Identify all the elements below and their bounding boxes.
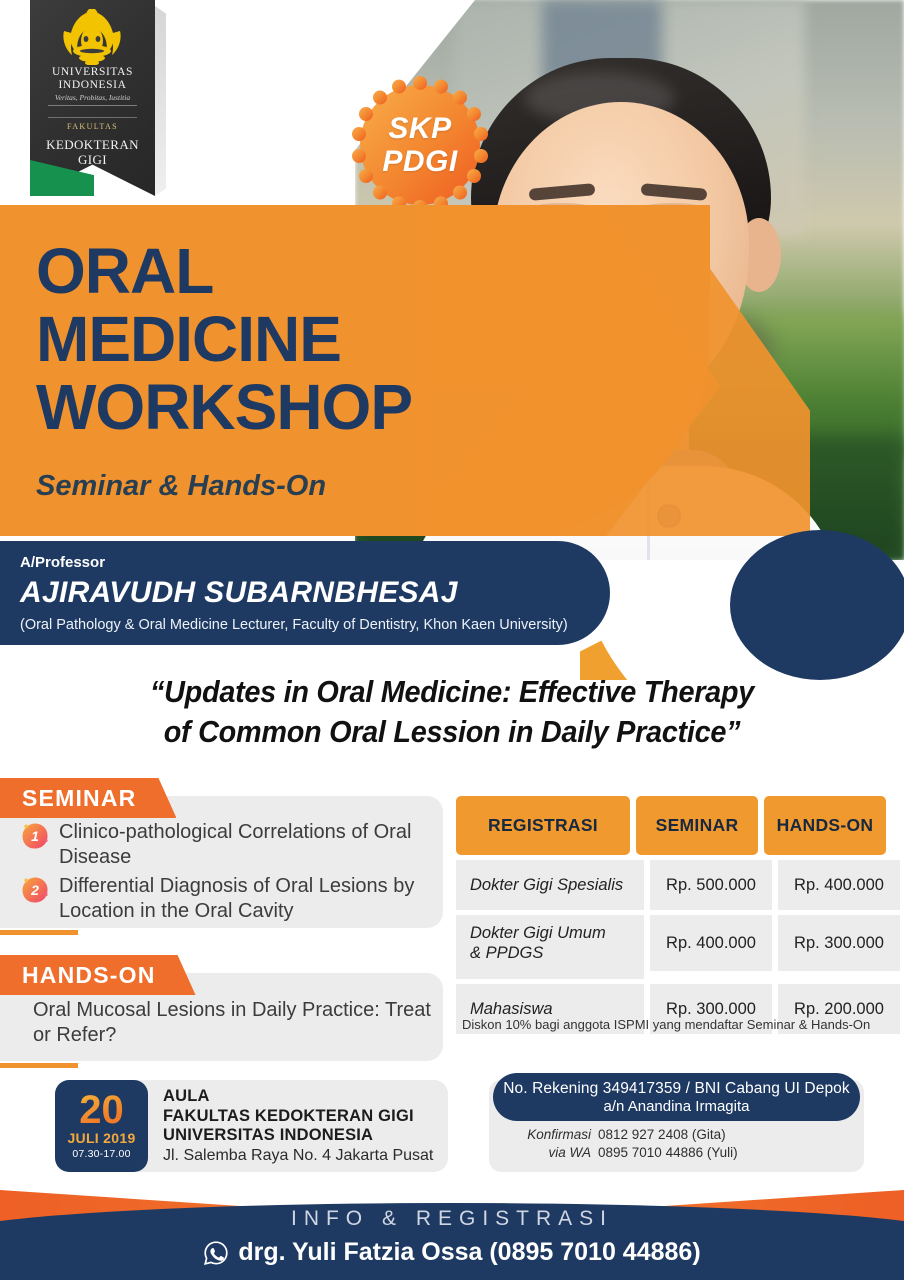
title-line-2: MEDICINE [36, 308, 341, 370]
skp-line-1: SKP [388, 112, 451, 145]
list-item: 2 Differential Diagnosis of Oral Lesions… [22, 874, 432, 923]
cell-seminar-price: Rp. 500.000 [650, 860, 772, 910]
confirmation-row: Konfirmasi0812 927 2408 (Gita) [505, 1126, 850, 1144]
logo-university-line2: INDONESIA [30, 79, 155, 92]
bank-account-number: No. Rekening 349417359 / BNI Cabang UI D… [503, 1080, 849, 1098]
cell-handson-price: Rp. 400.000 [778, 860, 900, 910]
bank-account-header: No. Rekening 349417359 / BNI Cabang UI D… [493, 1073, 860, 1121]
skp-pdgi-badge: SKP PDGI [348, 73, 492, 217]
column-header-registrasi: REGISTRASI [456, 796, 630, 855]
logo-motto: Veritas, Probitas, Iustitia [30, 93, 155, 102]
cell-category-line1: Dokter Gigi Umum [470, 923, 644, 943]
venue-line-3: UNIVERSITAS INDONESIA [163, 1126, 433, 1146]
hands-on-text: Oral Mucosal Lesions in Daily Practice: … [33, 998, 433, 1048]
confirmation-value: 0812 927 2408 (Gita) [598, 1127, 726, 1142]
speaker-name: AJIRAVUDH SUBARNBHESAJ [20, 576, 458, 610]
whatsapp-row: via WA0895 7010 44886 (Yuli) [505, 1144, 850, 1162]
confirmation-details: Konfirmasi0812 927 2408 (Gita) via WA089… [505, 1126, 850, 1162]
bullet-number-text: 1 [22, 823, 48, 849]
venue-address: Jl. Salemba Raya No. 4 Jakarta Pusat [163, 1146, 433, 1166]
table-row: Dokter Gigi Umum & PPDGS Rp. 400.000 Rp.… [456, 910, 904, 979]
event-theme-quote: “Updates in Oral Medicine: Effective The… [87, 672, 816, 752]
title-line-3: WORKSHOP [36, 376, 412, 438]
seminar-item-text: Clinico-pathological Correlations of Ora… [59, 820, 432, 869]
venue-line-1: AULA [163, 1087, 433, 1107]
cell-category: Dokter Gigi Spesialis [456, 860, 644, 910]
list-item: 1 Clinico-pathological Correlations of O… [22, 820, 432, 869]
cell-handson-price: Rp. 300.000 [778, 915, 900, 971]
logo-faculty-line2: GIGI [30, 152, 155, 167]
seminar-underline [0, 930, 78, 935]
hands-on-underline [0, 1063, 78, 1068]
logo-divider-2 [48, 117, 137, 118]
logo-university-name: UNIVERSITAS INDONESIA [30, 66, 155, 91]
venue-line-2: FAKULTAS KEDOKTERAN GIGI [163, 1107, 433, 1127]
whatsapp-icon[interactable] [203, 1240, 229, 1266]
orange-triangle-accent [440, 390, 520, 490]
logo-faculty-line1: KEDOKTERAN [30, 137, 155, 152]
makara-icon [52, 9, 132, 65]
quote-line-1: “Updates in Oral Medicine: Effective The… [87, 672, 816, 712]
whatsapp-value: 0895 7010 44886 (Yuli) [598, 1145, 738, 1160]
quote-line-2: of Common Oral Lession in Daily Practice… [87, 712, 816, 752]
column-header-hands-on: HANDS-ON [764, 796, 886, 855]
bank-account-holder: a/n Anandina Irmagita [604, 1098, 750, 1115]
registration-price-table: REGISTRASI SEMINAR HANDS-ON Dokter Gigi … [456, 796, 904, 1034]
seminar-item-text: Differential Diagnosis of Oral Lesions b… [59, 874, 432, 923]
table-header-row: REGISTRASI SEMINAR HANDS-ON [456, 796, 904, 855]
title-line-1: ORAL [36, 240, 213, 302]
event-time: 07.30-17.00 [72, 1148, 130, 1160]
whatsapp-label: via WA [505, 1144, 591, 1162]
cell-category-line2: & PPDGS [470, 943, 644, 963]
ui-logo-shadow [155, 6, 166, 196]
skp-badge-text: SKP PDGI [348, 73, 492, 217]
column-header-seminar: SEMINAR [636, 796, 758, 855]
seminar-tag: SEMINAR [0, 778, 176, 818]
event-date-box: 20 JULI 2019 07.30-17.00 [55, 1080, 148, 1172]
speaker-role: A/Professor [20, 554, 105, 571]
cell-seminar-price: Rp. 400.000 [650, 915, 772, 971]
speaker-affiliation: (Oral Pathology & Oral Medicine Lecturer… [20, 617, 568, 633]
cell-category: Dokter Gigi Umum & PPDGS [456, 915, 644, 979]
footer-contact: drg. Yuli Fatzia Ossa (0895 7010 44886) [0, 1238, 904, 1267]
venue-details: AULA FAKULTAS KEDOKTERAN GIGI UNIVERSITA… [163, 1087, 433, 1166]
hands-on-tag: HANDS-ON [0, 955, 196, 995]
logo-divider-1 [48, 105, 137, 106]
bullet-number-text: 2 [22, 877, 48, 903]
discount-note: Diskon 10% bagi anggota ISPMI yang menda… [462, 1017, 870, 1032]
footer-title: INFO & REGISTRASI [0, 1207, 904, 1231]
footer-contact-text: drg. Yuli Fatzia Ossa (0895 7010 44886) [238, 1238, 700, 1267]
confirmation-label: Konfirmasi [505, 1126, 591, 1144]
logo-university-line1: UNIVERSITAS [30, 66, 155, 79]
logo-faculty-name: KEDOKTERAN GIGI [30, 137, 155, 167]
poster-root: UNIVERSITAS INDONESIA Veritas, Probitas,… [0, 0, 904, 1280]
seminar-topic-list: 1 Clinico-pathological Correlations of O… [22, 820, 432, 928]
bullet-number-icon: 2 [22, 877, 48, 903]
orange-swoosh-accent [580, 380, 904, 680]
bullet-number-icon: 1 [22, 823, 48, 849]
skp-line-2: PDGI [382, 145, 457, 178]
event-month-year: JULI 2019 [67, 1130, 135, 1146]
table-row: Dokter Gigi Spesialis Rp. 500.000 Rp. 40… [456, 855, 904, 910]
event-day: 20 [79, 1092, 124, 1128]
logo-faculty-label: FAKULTAS [30, 122, 155, 131]
title-subtitle: Seminar & Hands-On [36, 470, 326, 503]
